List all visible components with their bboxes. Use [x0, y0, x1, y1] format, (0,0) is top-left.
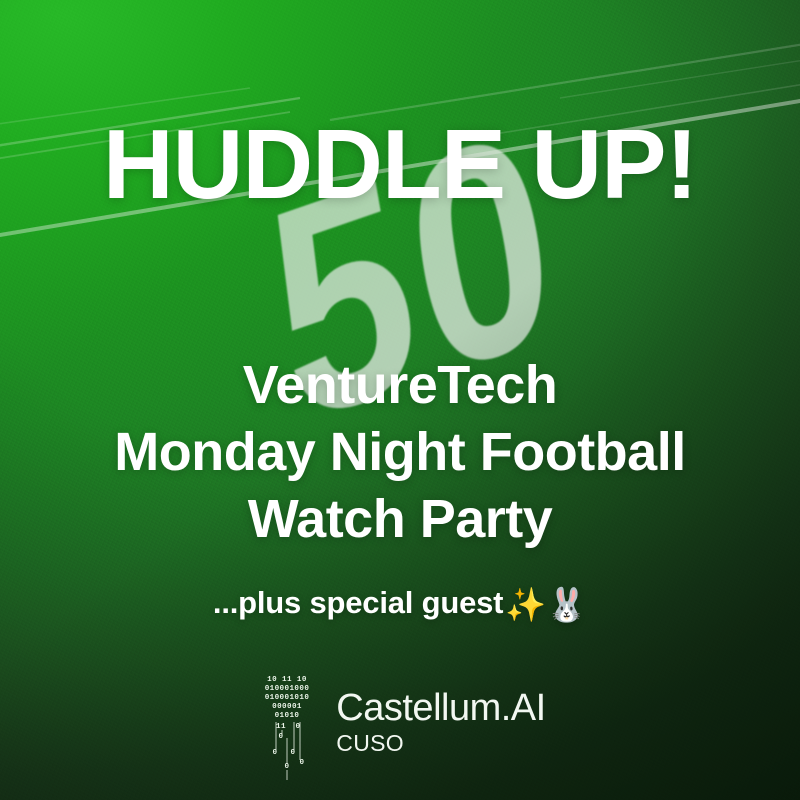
brand-wordmark: Castellum.AI CUSO — [336, 668, 545, 756]
svg-text:0: 0 — [285, 763, 290, 771]
sparkles-rabbit-emoji: ✨🐰 — [505, 586, 587, 623]
event-title-line-1: VentureTech — [0, 352, 800, 419]
special-guest-text: ...plus special guest — [213, 585, 503, 620]
poster-canvas: 50 HUDDLE UP! VentureTech Monday Night F… — [0, 0, 800, 800]
page-title: HUDDLE UP! — [0, 112, 800, 216]
brand-subtitle: CUSO — [336, 730, 545, 756]
svg-text:0: 0 — [291, 749, 296, 757]
svg-text:01010: 01010 — [275, 712, 300, 720]
svg-text:0: 0 — [273, 749, 278, 757]
event-title-line-3: Watch Party — [0, 486, 800, 553]
svg-text:010001000: 010001000 — [265, 685, 310, 693]
svg-text:010001010: 010001010 — [265, 694, 310, 702]
svg-text:11: 11 — [276, 723, 286, 731]
svg-text:0: 0 — [279, 733, 284, 741]
brand-name: Castellum.AI — [336, 688, 545, 728]
svg-text:000001: 000001 — [272, 703, 302, 711]
event-title-block: VentureTech Monday Night Football Watch … — [0, 352, 800, 553]
event-title-line-2: Monday Night Football — [0, 419, 800, 486]
svg-text:10 11 10: 10 11 10 — [267, 676, 307, 684]
castellum-binary-mark-icon: 10 11 10 010001000 010001010 000001 0101… — [254, 672, 320, 782]
svg-text:0: 0 — [300, 759, 305, 767]
brand-logo-lockup: 10 11 10 010001000 010001010 000001 0101… — [0, 668, 800, 782]
special-guest-line: ...plus special guest✨🐰 — [0, 583, 800, 625]
